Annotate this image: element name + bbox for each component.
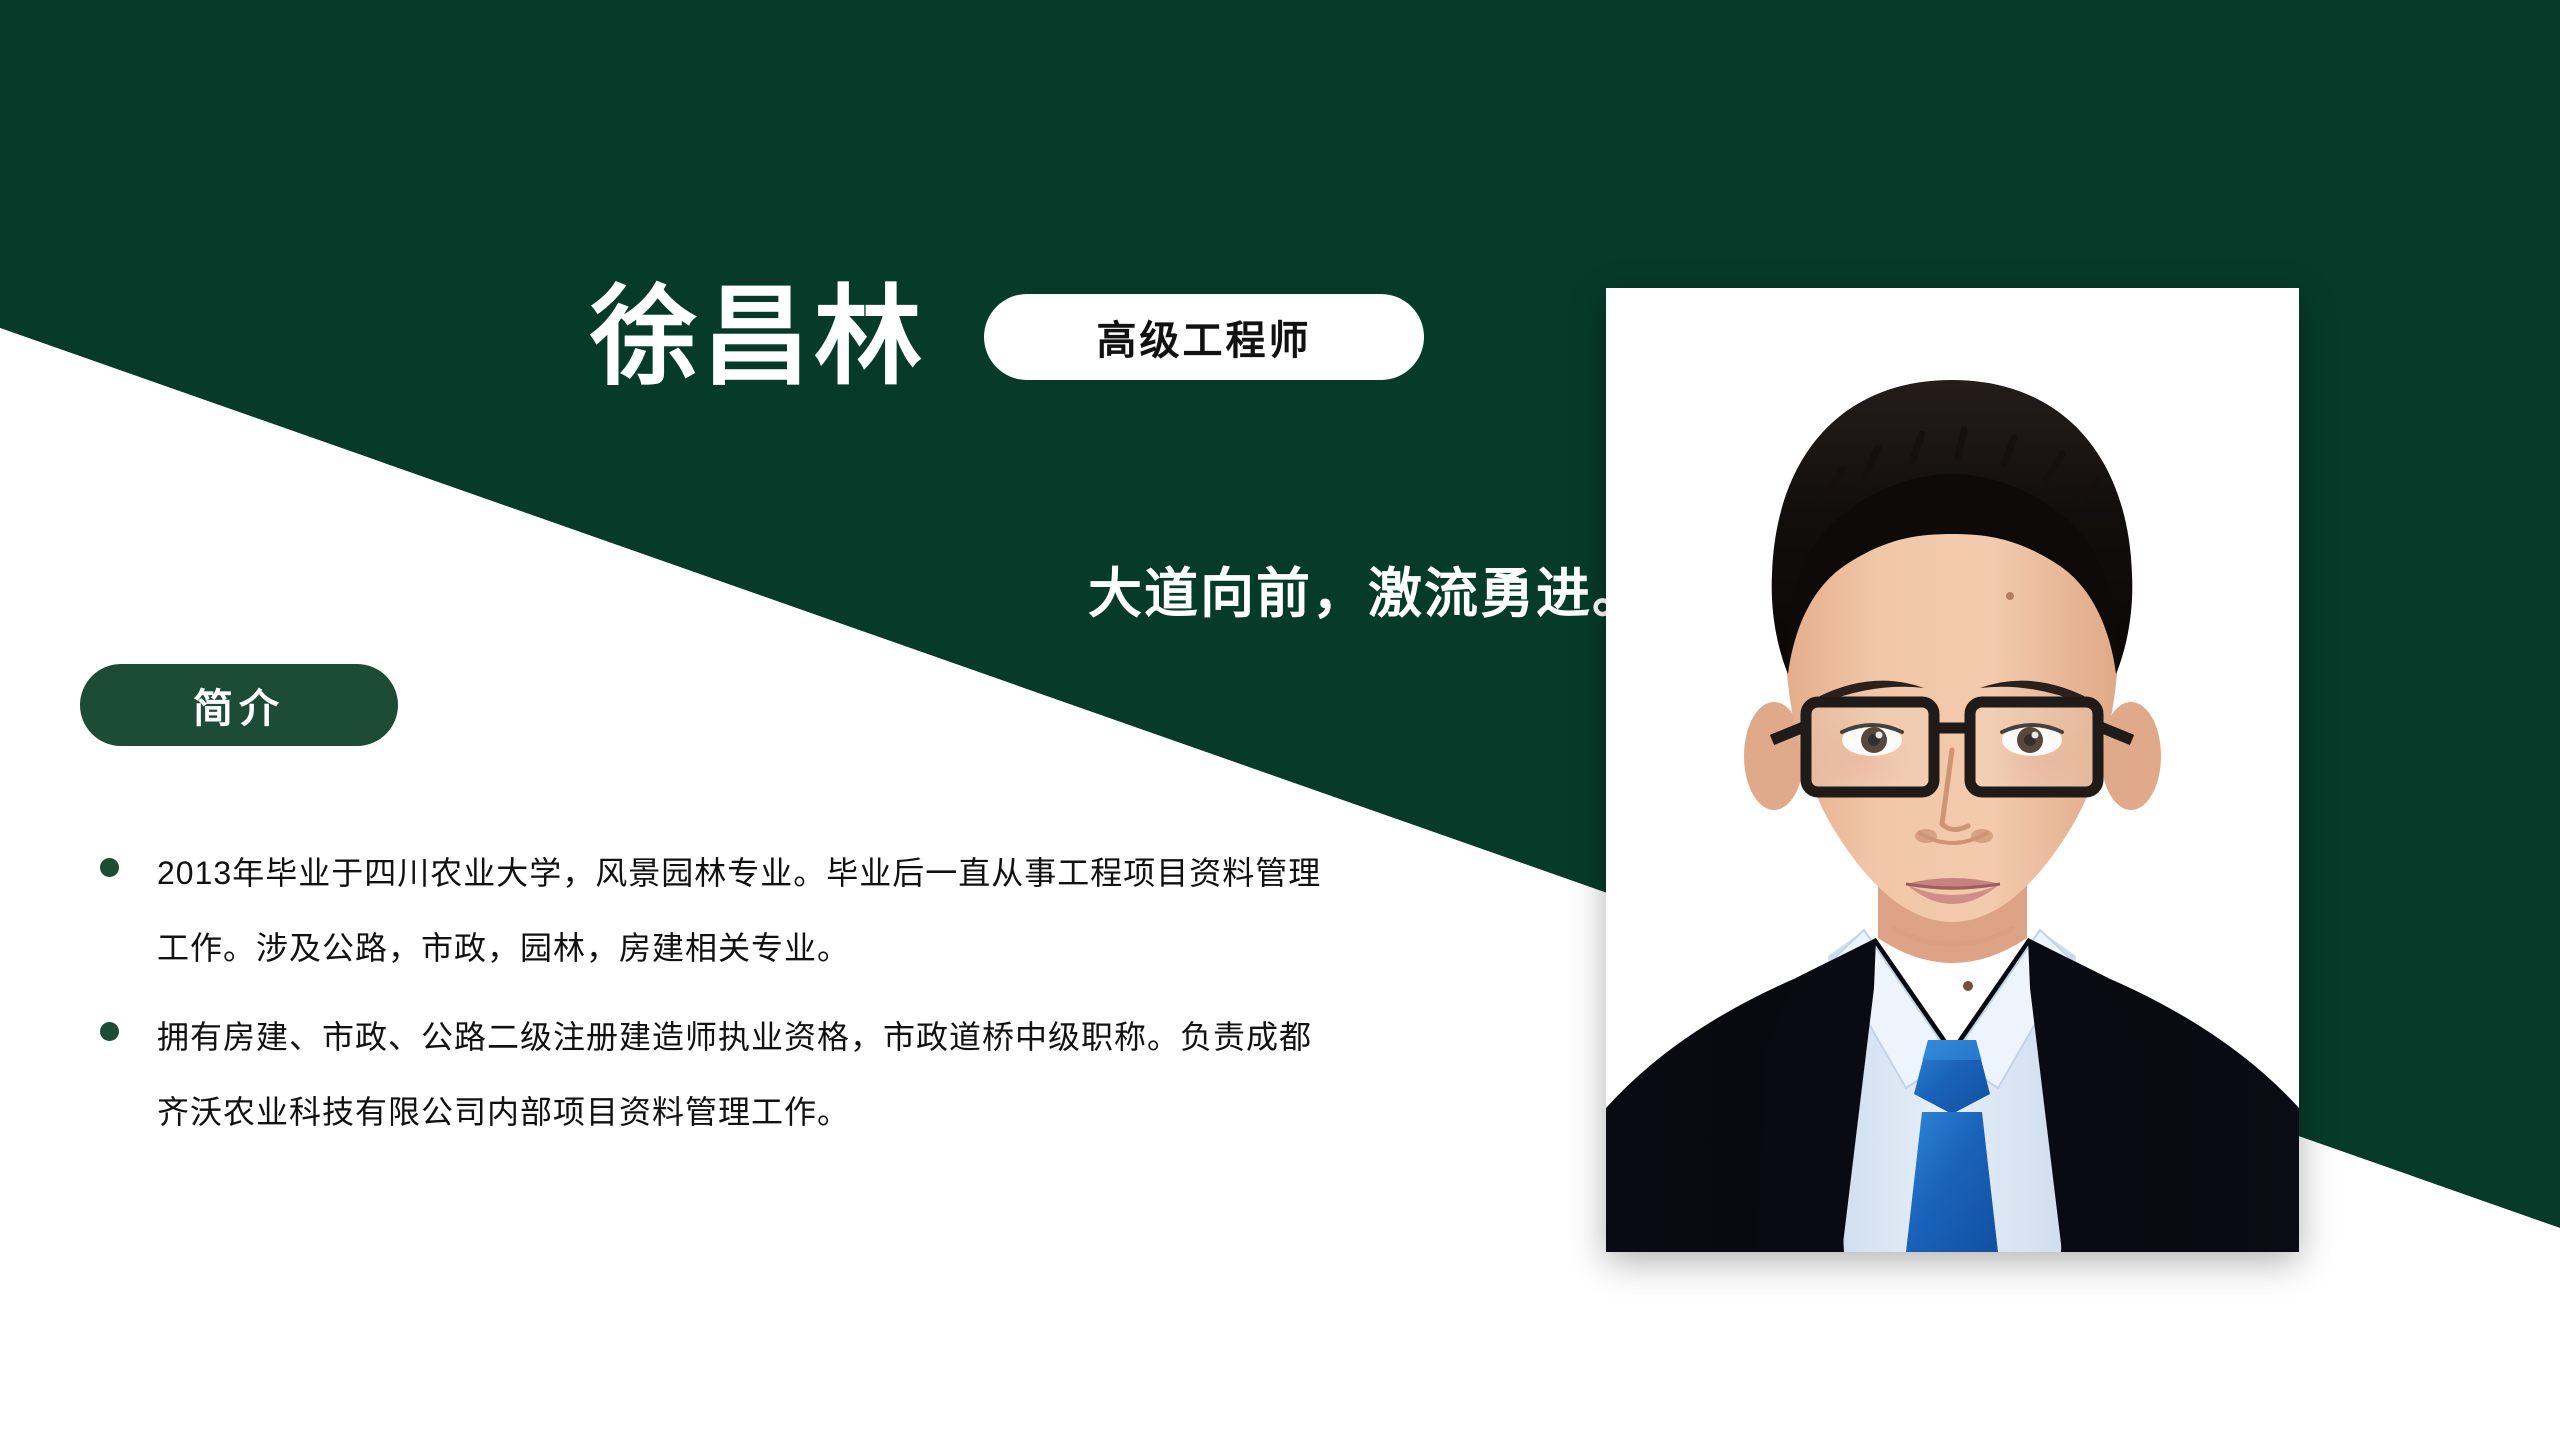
- bullet-dot-icon: [100, 1022, 119, 1041]
- list-item: 2013年毕业于四川农业大学，风景园林专业。毕业后一直从事工程项目资料管理工作。…: [100, 836, 1520, 986]
- bio-list: 2013年毕业于四川农业大学，风景园林专业。毕业后一直从事工程项目资料管理工作。…: [100, 836, 1520, 1164]
- section-label-profile: 简介: [80, 664, 398, 746]
- list-item: 拥有房建、市政、公路二级注册建造师执业资格，市政道桥中级职称。负责成都齐沃农业科…: [100, 1000, 1520, 1150]
- tagline-text: 大道向前，激流勇进。: [1088, 562, 1606, 627]
- portrait-illustration: [1606, 288, 2299, 1252]
- tagline-container: 大道向前，激流勇进。: [0, 540, 1606, 670]
- bullet-dot-icon: [100, 858, 119, 877]
- slide-canvas: 徐昌林 高级工程师 大道向前，激流勇进。 简介 2013年毕业于四川农业大学，风…: [0, 0, 2560, 1440]
- list-item-text: 拥有房建、市政、公路二级注册建造师执业资格，市政道桥中级职称。负责成都齐沃农业科…: [157, 1000, 1337, 1150]
- list-item-text: 2013年毕业于四川农业大学，风景园林专业。毕业后一直从事工程项目资料管理工作。…: [157, 836, 1337, 986]
- portrait-photo: [1606, 288, 2299, 1252]
- status-badge: 高级工程师: [984, 294, 1424, 380]
- name-header: 徐昌林 高级工程师: [590, 283, 1424, 391]
- page-title: 徐昌林: [590, 283, 926, 391]
